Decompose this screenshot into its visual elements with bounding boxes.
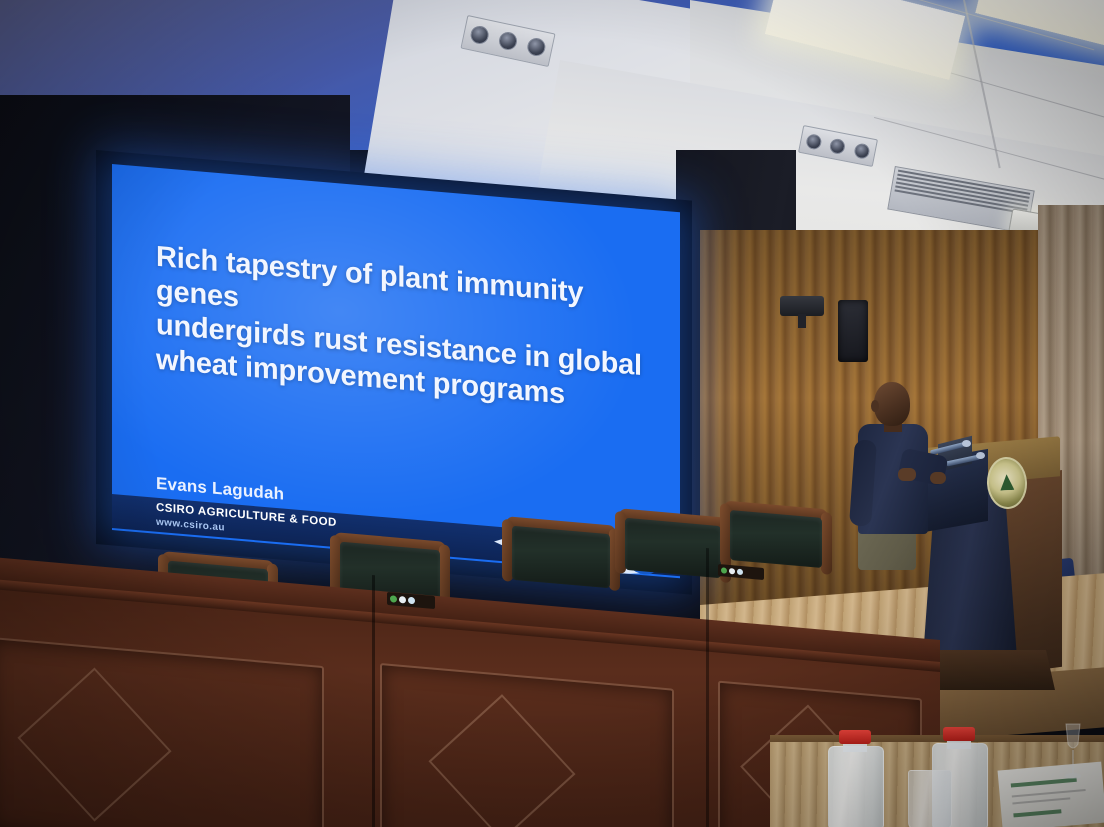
bottle-body — [828, 746, 884, 827]
socket-indicator — [721, 567, 727, 574]
chair-backrest — [512, 526, 610, 589]
spotlight-bulb — [829, 137, 847, 155]
presenter-head — [874, 382, 910, 426]
desk-joint — [372, 575, 375, 827]
microphone-head-icon — [976, 452, 985, 459]
water-bottle[interactable] — [828, 730, 882, 827]
slide-surface: Rich tapestry of plant immunity genes un… — [112, 164, 680, 578]
spotlight-bulb — [853, 142, 871, 160]
spotlight-bulb — [805, 132, 823, 150]
projection-screen: Rich tapestry of plant immunity genes un… — [96, 150, 696, 550]
bottle-cap — [943, 727, 975, 741]
documents-on-table[interactable] — [998, 762, 1104, 827]
projector-icon — [780, 296, 824, 316]
socket-indicator — [408, 597, 415, 605]
presenter-hand — [898, 468, 916, 481]
spotlight-bulb — [526, 36, 547, 57]
spotlight-bulb — [469, 24, 490, 45]
chair — [512, 526, 610, 589]
spotlight-bulb — [497, 30, 518, 51]
presenter-hand — [930, 472, 946, 484]
desk-joint — [706, 548, 709, 827]
socket-indicator — [390, 595, 397, 603]
wine-glass — [1062, 722, 1084, 782]
socket-indicator — [729, 568, 735, 575]
bottle-cap — [839, 730, 871, 744]
microphone-head-icon — [962, 440, 971, 447]
socket-indicator — [399, 596, 406, 604]
socket-indicator — [737, 569, 743, 576]
drinking-glass[interactable] — [908, 770, 952, 827]
conference-hall-photo: Rich tapestry of plant immunity genes un… — [0, 0, 1104, 827]
document-text-line — [1012, 789, 1086, 797]
wall-speaker-icon — [838, 300, 868, 362]
chair-arm — [821, 512, 832, 575]
chair — [730, 510, 822, 568]
projector-mount-arm — [798, 314, 806, 328]
chair-backrest — [730, 510, 822, 568]
presenter-ear — [871, 400, 879, 412]
document-accent-line — [1013, 809, 1061, 817]
document-text-line — [1012, 797, 1070, 804]
